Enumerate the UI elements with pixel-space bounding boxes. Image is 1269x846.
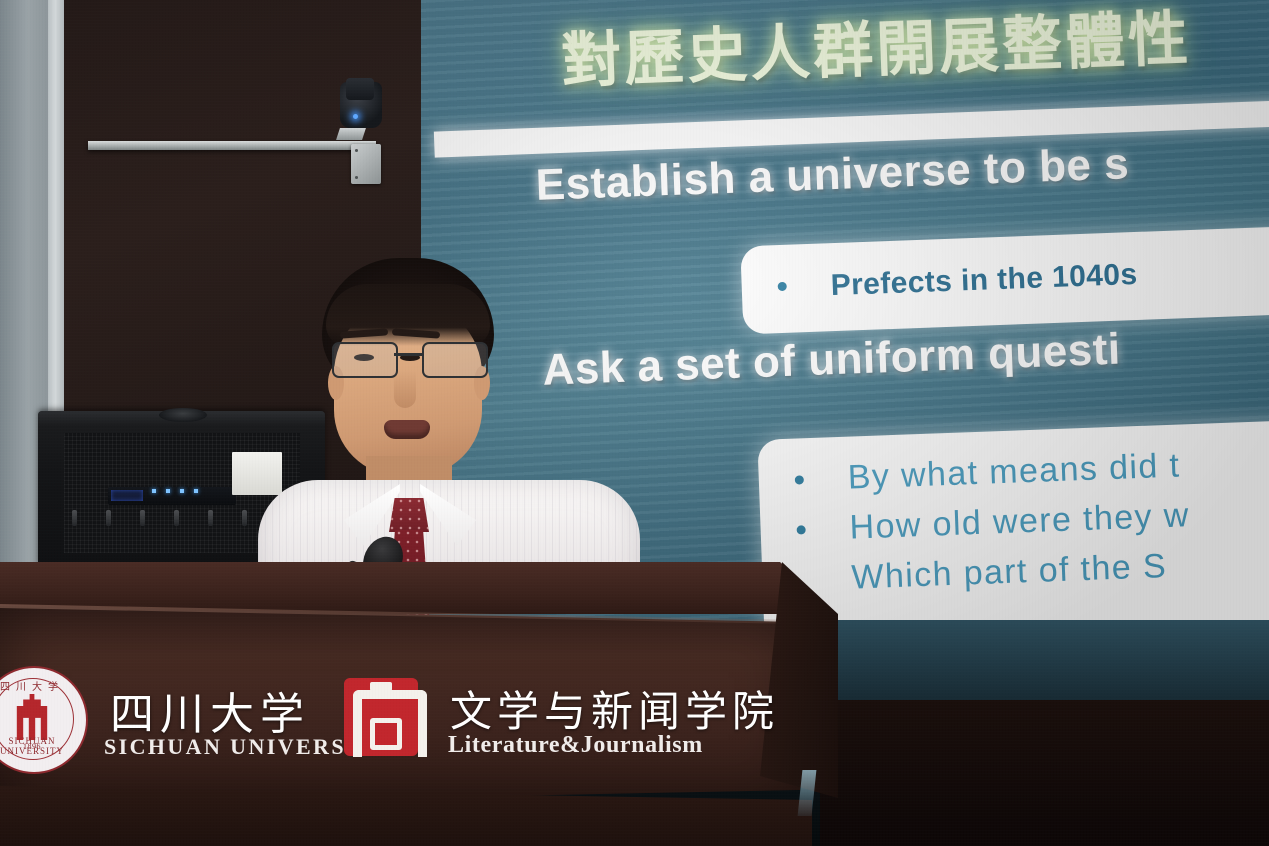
list-item: Prefects in the 1040s [777, 258, 1138, 305]
rack-led [152, 489, 156, 493]
speaker-nose [394, 370, 416, 408]
bullet-label-by-what-means: By what means did t [847, 447, 1181, 498]
podium-branding: 四川大学 1896 SICHUAN UNIVERSITY 四川大学 SICHUA… [0, 640, 790, 790]
eyeglass-lens-left [332, 342, 398, 378]
camera-led-indicator [353, 114, 358, 119]
rack-foot-row [70, 510, 260, 530]
bullet-label-prefects: Prefects in the 1040s [830, 258, 1138, 303]
camera-arm [336, 128, 366, 140]
rack-foot [208, 510, 213, 526]
rack-foot [140, 510, 145, 526]
list-item-continuation: Which part of the S [851, 547, 1168, 598]
photo-scene: 對歷史人群開展整體性 Establish a universe to be s … [0, 0, 1269, 846]
wall-rail [88, 141, 376, 150]
rack-lcd-display [111, 490, 143, 501]
rack-led [194, 489, 198, 493]
seal-tab [370, 682, 392, 691]
seal-arc-text: SICHUAN UNIVERSITY [0, 736, 80, 756]
list-item: By what means did t [794, 447, 1181, 500]
right-floor-shadow [820, 700, 1269, 846]
eyeglass-bridge [394, 353, 424, 356]
speaker-mouth [384, 420, 430, 439]
literature-journalism-seal-icon [344, 678, 418, 756]
sichuan-university-seal-icon: 四川大学 1896 SICHUAN UNIVERSITY [2, 662, 88, 774]
rack-led-row [152, 489, 222, 501]
rack-foot [72, 510, 77, 526]
school-name-en: Literature&Journalism [448, 732, 703, 759]
seal-arc-top-text: 四川大学 [0, 678, 80, 693]
necktie-knot [389, 498, 429, 532]
rack-led [180, 489, 184, 493]
rack-foot [106, 510, 111, 526]
rack-foot [174, 510, 179, 526]
bullet-dot-icon [795, 475, 804, 484]
rack-top-knob [159, 408, 207, 422]
bullet-label-how-old: How old were they w [849, 496, 1190, 547]
eyeglass-lens-right [422, 342, 488, 378]
bullet-dot-icon [797, 525, 806, 534]
university-name-cjk: 四川大学 [110, 678, 310, 742]
bullet-label-which-part: Which part of the S [851, 547, 1168, 598]
camera-housing-top [346, 78, 374, 100]
school-name-cjk: 文学与新闻学院 [450, 678, 779, 739]
rack-led [166, 489, 170, 493]
bullet-dot-icon [778, 282, 787, 291]
camera-wall-mount [351, 144, 381, 184]
list-item: How old were they w [796, 496, 1190, 549]
slide-card-questions: By what means did t How old were they w … [757, 418, 1269, 642]
slide-card-prefects: Prefects in the 1040s [740, 224, 1269, 335]
slide-cjk-title: 對歷史人群開展整體性 [560, 0, 1193, 100]
speaker-person [248, 258, 648, 578]
rack-foot [242, 510, 247, 526]
